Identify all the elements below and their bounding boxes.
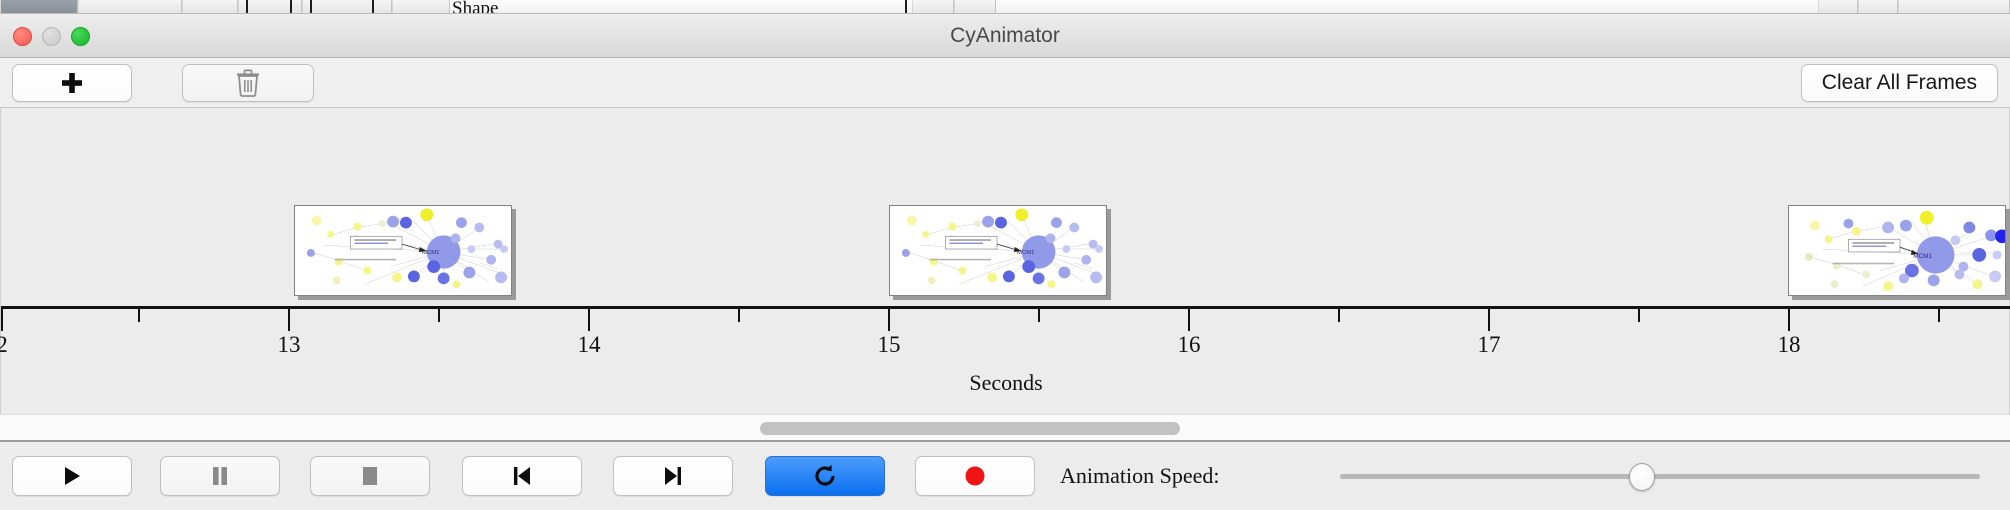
keyframe-thumbnail[interactable]: MCM1 [889, 205, 1111, 300]
tick-label: 17 [1478, 332, 1501, 358]
skip-forward-icon [661, 464, 685, 488]
bg-chip [1898, 0, 2010, 14]
skip-to-start-button[interactable] [462, 456, 582, 496]
skip-to-end-button[interactable] [613, 456, 733, 496]
background-window-strip: Shape [0, 0, 2010, 14]
axis-title: Seconds [1, 370, 2010, 396]
record-icon [963, 464, 987, 488]
timeline-panel[interactable]: MCM1 [0, 108, 2010, 414]
pause-icon [208, 464, 232, 488]
tick-minor [138, 309, 140, 322]
tick-minor [1038, 309, 1040, 322]
bg-chip [302, 0, 392, 14]
tick-label: 2 [0, 332, 8, 358]
network-graph: MCM1 [1789, 206, 2005, 295]
add-frame-button[interactable] [12, 64, 132, 102]
keyframe-thumbnail[interactable]: MCM1 [294, 205, 516, 300]
animation-speed-slider[interactable] [1340, 456, 1980, 496]
timeline-ruler [1, 306, 2010, 309]
pause-button[interactable] [160, 456, 280, 496]
slider-track [1340, 474, 1980, 479]
tick-major [288, 309, 290, 331]
loop-icon [812, 463, 838, 489]
bg-tick [905, 0, 907, 14]
bg-chip [182, 0, 238, 14]
bg-shape-label: Shape [452, 0, 498, 14]
stop-button[interactable] [310, 456, 430, 496]
keyframe-thumbnail[interactable]: MCM1 [1788, 205, 2010, 300]
delete-frame-button[interactable] [182, 64, 314, 102]
window-title: CyAnimator [0, 14, 2010, 58]
bg-tick [290, 0, 292, 14]
tick-minor [1638, 309, 1640, 322]
tick-label: 13 [278, 332, 301, 358]
tick-minor [1338, 309, 1340, 322]
clear-all-frames-button[interactable]: Clear All Frames [1801, 64, 1998, 102]
bg-chip [954, 0, 996, 14]
bg-chip [912, 0, 954, 14]
plus-icon [59, 70, 85, 96]
tick-minor [438, 309, 440, 322]
slider-thumb[interactable] [1629, 463, 1655, 491]
thumbnail-image: MCM1 [294, 205, 512, 296]
bg-tick [310, 0, 312, 14]
play-icon [60, 464, 84, 488]
toolbar: Clear All Frames [0, 58, 2010, 108]
tick-label: 16 [1178, 332, 1201, 358]
tick-label: 18 [1778, 332, 1801, 358]
scrollbar-thumb[interactable] [760, 422, 1180, 435]
tick-label: 14 [578, 332, 601, 358]
network-graph: MCM1 [890, 206, 1106, 295]
tick-major [1788, 309, 1790, 331]
tick-minor [1938, 309, 1940, 322]
bg-chip [0, 0, 78, 14]
thumbnail-image: MCM1 [889, 205, 1107, 296]
bg-chip [392, 0, 450, 14]
tick-major [588, 309, 590, 331]
stop-icon [358, 464, 382, 488]
bg-chip [78, 0, 182, 14]
title-bar: CyAnimator [0, 14, 2010, 58]
skip-back-icon [510, 464, 534, 488]
bg-chip [1818, 0, 1858, 14]
bg-chip [1858, 0, 1898, 14]
tick-label: 15 [878, 332, 901, 358]
animation-speed-label: Animation Speed: [1060, 456, 1219, 496]
record-button[interactable] [915, 456, 1035, 496]
loop-button[interactable] [765, 456, 885, 496]
trash-icon [235, 69, 261, 97]
tick-minor [738, 309, 740, 322]
network-graph: MCM1 [295, 206, 511, 295]
tick-major [1, 309, 3, 331]
transport-bar: Animation Speed: [0, 444, 2010, 510]
tick-major [1188, 309, 1190, 331]
bg-tick [246, 0, 248, 14]
tick-major [1488, 309, 1490, 331]
thumbnail-image: MCM1 [1788, 205, 2006, 296]
play-button[interactable] [12, 456, 132, 496]
timeline-scrollbar[interactable] [0, 414, 2010, 442]
tick-major [888, 309, 890, 331]
bg-tick [372, 0, 374, 14]
